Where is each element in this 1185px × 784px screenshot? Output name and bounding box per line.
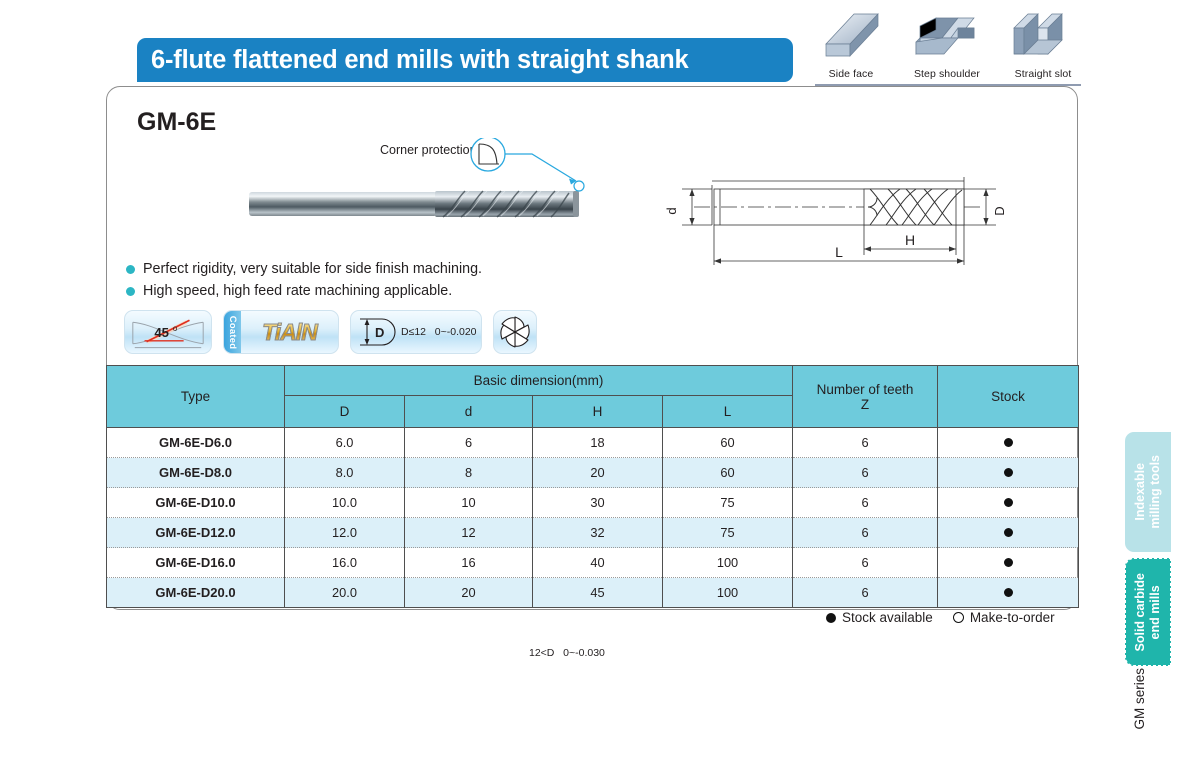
process-step-shoulder: Step shoulder bbox=[908, 8, 986, 86]
cell-H: 30 bbox=[533, 488, 663, 518]
cell-Z: 6 bbox=[793, 578, 938, 608]
cell-L: 75 bbox=[663, 488, 793, 518]
spec-table-body: GM-6E-D6.06.0618606GM-6E-D8.08.0820606GM… bbox=[107, 428, 1079, 608]
corner-protection-callout: Corner protection bbox=[380, 138, 610, 198]
feature-bullets: Perfect rigidity, very suitable for side… bbox=[126, 259, 482, 303]
th-teeth-text: Number of teeth bbox=[794, 382, 936, 397]
bullet-item: Perfect rigidity, very suitable for side… bbox=[126, 259, 482, 279]
dimension-drawing: d D H L bbox=[664, 163, 1020, 268]
cell-D: 10.0 bbox=[285, 488, 405, 518]
table-row: GM-6E-D10.010.01030756 bbox=[107, 488, 1079, 518]
dim-d-label: d bbox=[664, 207, 679, 214]
cell-D: 20.0 bbox=[285, 578, 405, 608]
process-label: Straight slot bbox=[1015, 68, 1072, 80]
cell-stock bbox=[938, 518, 1079, 548]
table-row: GM-6E-D8.08.0820606 bbox=[107, 458, 1079, 488]
coated-tab: Coated bbox=[224, 311, 241, 353]
bullet-dot-icon bbox=[126, 265, 135, 274]
spec-table: Type Basic dimension(mm) Number of teeth… bbox=[106, 365, 1079, 608]
filled-dot-icon bbox=[1004, 498, 1013, 507]
diameter-tolerance-icon: D bbox=[356, 315, 396, 349]
bullet-text: High speed, high feed rate machining app… bbox=[143, 283, 452, 299]
cell-D: 6.0 bbox=[285, 428, 405, 458]
table-row: GM-6E-D20.020.020451006 bbox=[107, 578, 1079, 608]
th-D: D bbox=[285, 396, 405, 428]
cell-L: 100 bbox=[663, 578, 793, 608]
series-label: GM series bbox=[1132, 668, 1147, 730]
step-shoulder-icon bbox=[914, 8, 980, 66]
cell-d: 20 bbox=[405, 578, 533, 608]
cell-H: 18 bbox=[533, 428, 663, 458]
th-stock: Stock bbox=[938, 366, 1079, 428]
filled-dot-icon bbox=[1004, 558, 1013, 567]
cell-stock bbox=[938, 428, 1079, 458]
tab-label: Indexablemilling tools bbox=[1133, 455, 1163, 529]
cell-stock bbox=[938, 458, 1079, 488]
stock-legend: Stock available Make-to-order bbox=[826, 610, 1055, 625]
bullet-text: Perfect rigidity, very suitable for side… bbox=[143, 261, 482, 277]
legend-label: Stock available bbox=[842, 610, 933, 625]
coated-label: Coated bbox=[227, 315, 238, 348]
cell-d: 16 bbox=[405, 548, 533, 578]
sidebar-item-solid-carbide-end-mills[interactable]: Solid carbideend mills bbox=[1125, 558, 1171, 666]
filled-dot-icon bbox=[1004, 438, 1013, 447]
cell-stock bbox=[938, 488, 1079, 518]
cell-type: GM-6E-D6.0 bbox=[107, 428, 285, 458]
helix-45-icon: 45 o bbox=[125, 310, 211, 354]
tab-label: Solid carbideend mills bbox=[1133, 573, 1163, 652]
process-icon-group: Side face Step shoulder bbox=[812, 8, 1082, 86]
cell-L: 60 bbox=[663, 428, 793, 458]
tolerance-line-2: 12<D 0~-0.030 bbox=[529, 647, 605, 660]
legend-label: Make-to-order bbox=[970, 610, 1055, 625]
cell-Z: 6 bbox=[793, 548, 938, 578]
cell-type: GM-6E-D16.0 bbox=[107, 548, 285, 578]
th-type: Type bbox=[107, 366, 285, 428]
catalog-page: Side face Step shoulder bbox=[0, 0, 1185, 784]
dim-L-label: L bbox=[835, 244, 843, 260]
coating-chip: Coated TiAlN bbox=[223, 310, 339, 354]
bullet-dot-icon bbox=[126, 287, 135, 296]
cell-type: GM-6E-D10.0 bbox=[107, 488, 285, 518]
filled-dot-icon bbox=[1004, 468, 1013, 477]
cell-H: 32 bbox=[533, 518, 663, 548]
cell-L: 100 bbox=[663, 548, 793, 578]
cell-type: GM-6E-D8.0 bbox=[107, 458, 285, 488]
helix-angle-value: 45 bbox=[154, 325, 169, 340]
page-title: GM-6E bbox=[137, 108, 216, 137]
specification-table: Type Basic dimension(mm) Number of teeth… bbox=[106, 365, 1078, 608]
section-banner: 6-flute flattened end mills with straigh… bbox=[137, 38, 793, 82]
cell-type: GM-6E-D20.0 bbox=[107, 578, 285, 608]
cell-L: 60 bbox=[663, 458, 793, 488]
th-L: L bbox=[663, 396, 793, 428]
th-number-of-teeth: Number of teeth Z bbox=[793, 366, 938, 428]
cell-Z: 6 bbox=[793, 488, 938, 518]
side-tab-group: Indexablemilling tools Solid carbideend … bbox=[1125, 432, 1171, 666]
legend-stock-available: Stock available bbox=[826, 610, 933, 625]
dim-D-label: D bbox=[992, 206, 1007, 215]
cell-Z: 6 bbox=[793, 458, 938, 488]
dim-H-label: H bbox=[905, 232, 915, 248]
th-teeth-symbol: Z bbox=[794, 397, 936, 412]
cell-d: 12 bbox=[405, 518, 533, 548]
cell-L: 75 bbox=[663, 518, 793, 548]
th-H: H bbox=[533, 396, 663, 428]
cell-stock bbox=[938, 548, 1079, 578]
th-basic-dimension: Basic dimension(mm) bbox=[285, 366, 793, 396]
cell-Z: 6 bbox=[793, 428, 938, 458]
cell-type: GM-6E-D12.0 bbox=[107, 518, 285, 548]
table-row: GM-6E-D16.016.016401006 bbox=[107, 548, 1079, 578]
table-row: GM-6E-D12.012.01232756 bbox=[107, 518, 1079, 548]
cell-stock bbox=[938, 578, 1079, 608]
open-dot-icon bbox=[953, 612, 964, 623]
tolerance-line-1: D≤12 0~-0.020 bbox=[401, 326, 477, 339]
sidebar-item-indexable-milling-tools[interactable]: Indexablemilling tools bbox=[1125, 432, 1171, 552]
side-face-icon bbox=[820, 8, 882, 66]
tolerance-chip: D D≤12 0~-0.020 bbox=[350, 310, 482, 354]
degree-symbol: o bbox=[173, 324, 178, 333]
cell-d: 8 bbox=[405, 458, 533, 488]
six-flute-section-icon bbox=[497, 314, 533, 350]
cell-D: 8.0 bbox=[285, 458, 405, 488]
process-label: Step shoulder bbox=[914, 68, 980, 80]
cell-D: 16.0 bbox=[285, 548, 405, 578]
cell-D: 12.0 bbox=[285, 518, 405, 548]
filled-dot-icon bbox=[826, 613, 836, 623]
bullet-item: High speed, high feed rate machining app… bbox=[126, 281, 482, 301]
helix-angle-chip: 45 o bbox=[124, 310, 212, 354]
cell-Z: 6 bbox=[793, 518, 938, 548]
flute-section-chip bbox=[493, 310, 537, 354]
cell-d: 10 bbox=[405, 488, 533, 518]
legend-make-to-order: Make-to-order bbox=[953, 610, 1055, 625]
callout-leader bbox=[380, 138, 610, 198]
feature-chip-row: 45 o Coated TiAlN D D≤12 0~-0.020 12<D 0… bbox=[124, 310, 537, 354]
coating-name: TiAlN bbox=[241, 319, 338, 346]
cell-H: 20 bbox=[533, 458, 663, 488]
process-side-face: Side face bbox=[812, 8, 890, 86]
cell-H: 45 bbox=[533, 578, 663, 608]
th-d: d bbox=[405, 396, 533, 428]
straight-slot-icon bbox=[1010, 8, 1076, 66]
filled-dot-icon bbox=[1004, 588, 1013, 597]
banner-title: 6-flute flattened end mills with straigh… bbox=[151, 46, 689, 75]
process-label: Side face bbox=[829, 68, 874, 80]
cell-d: 6 bbox=[405, 428, 533, 458]
filled-dot-icon bbox=[1004, 528, 1013, 537]
cell-H: 40 bbox=[533, 548, 663, 578]
process-straight-slot: Straight slot bbox=[1004, 8, 1082, 86]
table-row: GM-6E-D6.06.0618606 bbox=[107, 428, 1079, 458]
diameter-symbol: D bbox=[375, 325, 384, 340]
